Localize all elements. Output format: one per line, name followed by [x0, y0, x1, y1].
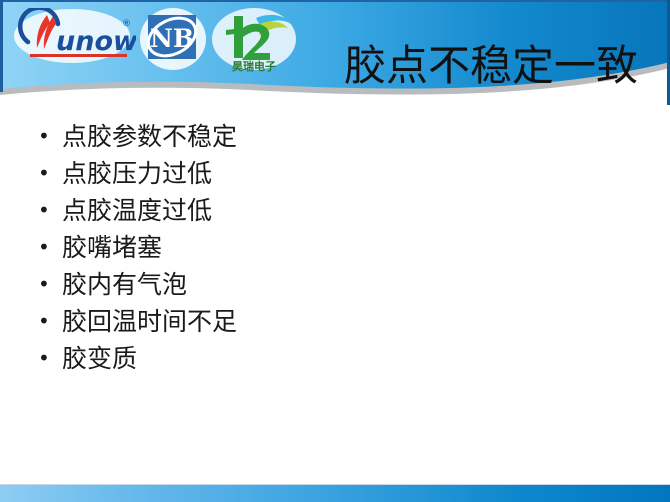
list-item-label: 点胶参数不稳定	[62, 122, 237, 151]
bullet-marker-icon: •	[38, 229, 52, 266]
list-item-label: 胶回温时间不足	[62, 307, 237, 336]
sunow-wordmark: unow	[56, 26, 136, 57]
list-item-label: 点胶温度过低	[62, 196, 212, 225]
bullet-marker-icon: •	[38, 266, 52, 303]
haorui-logo: 昊瑞电子	[212, 8, 296, 74]
bullet-marker-icon: •	[38, 192, 52, 229]
list-item: • 胶变质	[34, 340, 594, 377]
list-item: • 点胶参数不稳定	[34, 118, 594, 155]
registered-mark-icon: ®	[122, 19, 131, 29]
list-item: • 胶回温时间不足	[34, 303, 594, 340]
list-item: • 胶嘴堵塞	[34, 229, 594, 266]
nb-wordmark: NB	[150, 24, 194, 53]
footer-gradient-bar	[0, 484, 670, 502]
presentation-slide: unow ® NB	[0, 0, 670, 502]
bullet-marker-icon: •	[38, 155, 52, 192]
sunow-logo: unow ®	[14, 8, 136, 66]
slide-left-border	[0, 0, 3, 92]
bullet-list: • 点胶参数不稳定 • 点胶压力过低 • 点胶温度过低 • 胶嘴堵塞 • 胶内有…	[34, 118, 594, 377]
logo-row: unow ® NB	[0, 0, 320, 80]
bullet-marker-icon: •	[38, 340, 52, 377]
list-item: • 胶内有气泡	[34, 266, 594, 303]
list-item: • 点胶温度过低	[34, 192, 594, 229]
nb-logo: NB	[140, 8, 206, 70]
bullet-marker-icon: •	[38, 303, 52, 340]
list-item-label: 点胶压力过低	[62, 159, 212, 188]
haorui-caption: 昊瑞电子	[232, 59, 276, 73]
slide-top-border	[0, 0, 670, 2]
list-item-label: 胶内有气泡	[62, 270, 187, 299]
list-item-label: 胶嘴堵塞	[62, 233, 162, 262]
list-item-label: 胶变质	[62, 344, 137, 373]
bullet-marker-icon: •	[38, 118, 52, 155]
list-item: • 点胶压力过低	[34, 155, 594, 192]
page-title: 胶点不稳定一致	[344, 40, 664, 96]
